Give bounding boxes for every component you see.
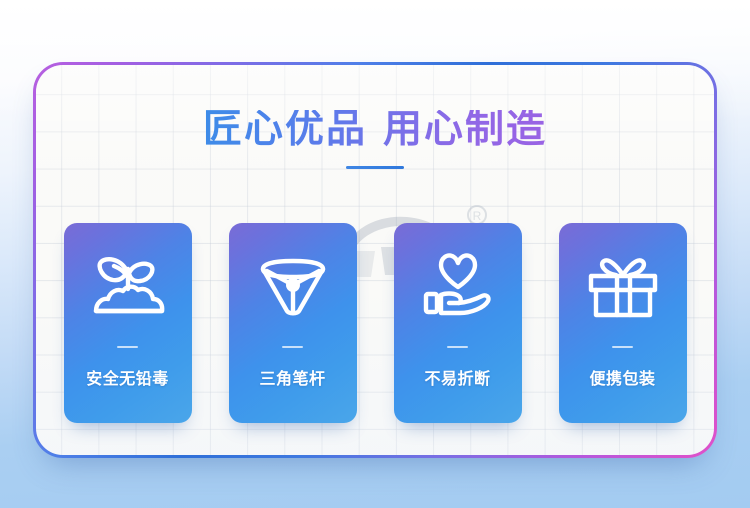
promo-banner: R 匠心优品用心制造 bbox=[0, 0, 750, 508]
feature-label: 安全无铅毒 bbox=[86, 365, 169, 389]
feature-label: 三角笔杆 bbox=[259, 365, 325, 389]
gift-box-icon bbox=[581, 245, 665, 329]
feature-card-row: 安全无铅毒 三角笔杆 bbox=[36, 223, 714, 423]
page-title: 匠心优品用心制造 bbox=[203, 110, 547, 149]
card-divider bbox=[117, 346, 138, 348]
headline-underline bbox=[346, 166, 404, 169]
heart-in-hand-icon bbox=[416, 245, 500, 329]
triangle-barrel-icon bbox=[251, 245, 335, 329]
headline-part-1: 匠心优品 bbox=[203, 108, 367, 151]
headline-block: 匠心优品用心制造 bbox=[36, 110, 714, 169]
gradient-border-frame: R 匠心优品用心制造 bbox=[33, 62, 717, 458]
card-divider bbox=[447, 346, 468, 348]
registered-mark-glyph: R bbox=[473, 209, 482, 223]
feature-card-safe-lead-free[interactable]: 安全无铅毒 bbox=[64, 223, 192, 423]
card-divider bbox=[612, 346, 633, 348]
sprout-icon bbox=[86, 245, 170, 329]
feature-card-triangular-barrel[interactable]: 三角笔杆 bbox=[229, 223, 357, 423]
feature-label: 便携包装 bbox=[589, 365, 655, 389]
feature-card-portable-packaging[interactable]: 便携包装 bbox=[559, 223, 687, 423]
feature-label: 不易折断 bbox=[424, 365, 490, 389]
headline-part-2: 用心制造 bbox=[383, 108, 547, 151]
card-divider bbox=[282, 346, 303, 348]
feature-card-break-resistant[interactable]: 不易折断 bbox=[394, 223, 522, 423]
grid-panel: R 匠心优品用心制造 bbox=[36, 65, 714, 455]
